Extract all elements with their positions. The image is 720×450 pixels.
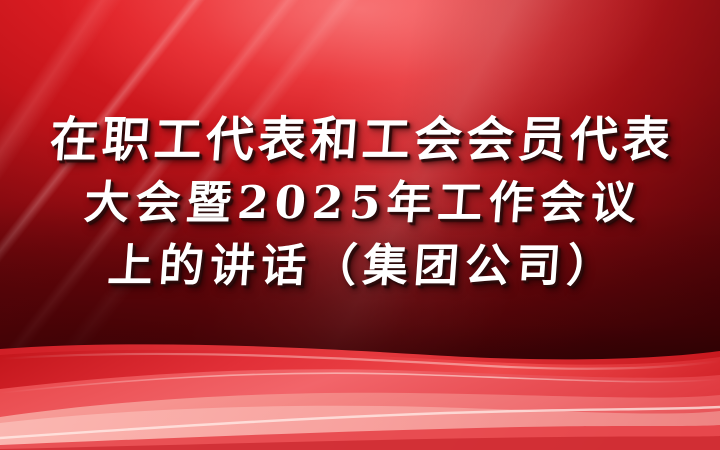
title-line-1: 在职工代表和工会会员代表	[0, 116, 720, 164]
title-line-3: 上的讲话（集团公司）	[0, 243, 720, 288]
silk-ribbon-waves	[0, 335, 720, 450]
poster-title: 在职工代表和工会会员代表 大会暨2025年工作会议 上的讲话（集团公司）	[0, 116, 720, 288]
poster-banner: 在职工代表和工会会员代表 大会暨2025年工作会议 上的讲话（集团公司）	[0, 0, 720, 450]
title-line-2: 大会暨2025年工作会议	[0, 180, 720, 225]
